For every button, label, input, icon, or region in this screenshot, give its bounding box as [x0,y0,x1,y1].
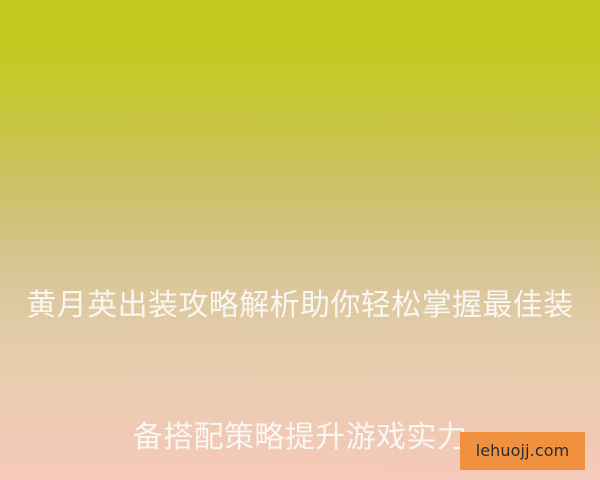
poster-canvas: 黄月英出装攻略解析助你轻松掌握最佳装 备搭配策略提升游戏实力 lehuojj.c… [0,0,600,480]
watermark-badge[interactable]: lehuojj.com [460,432,585,470]
watermark-label: lehuojj.com [476,443,570,459]
headline-line-1: 黄月英出装攻略解析助你轻松掌握最佳装 [22,284,578,328]
